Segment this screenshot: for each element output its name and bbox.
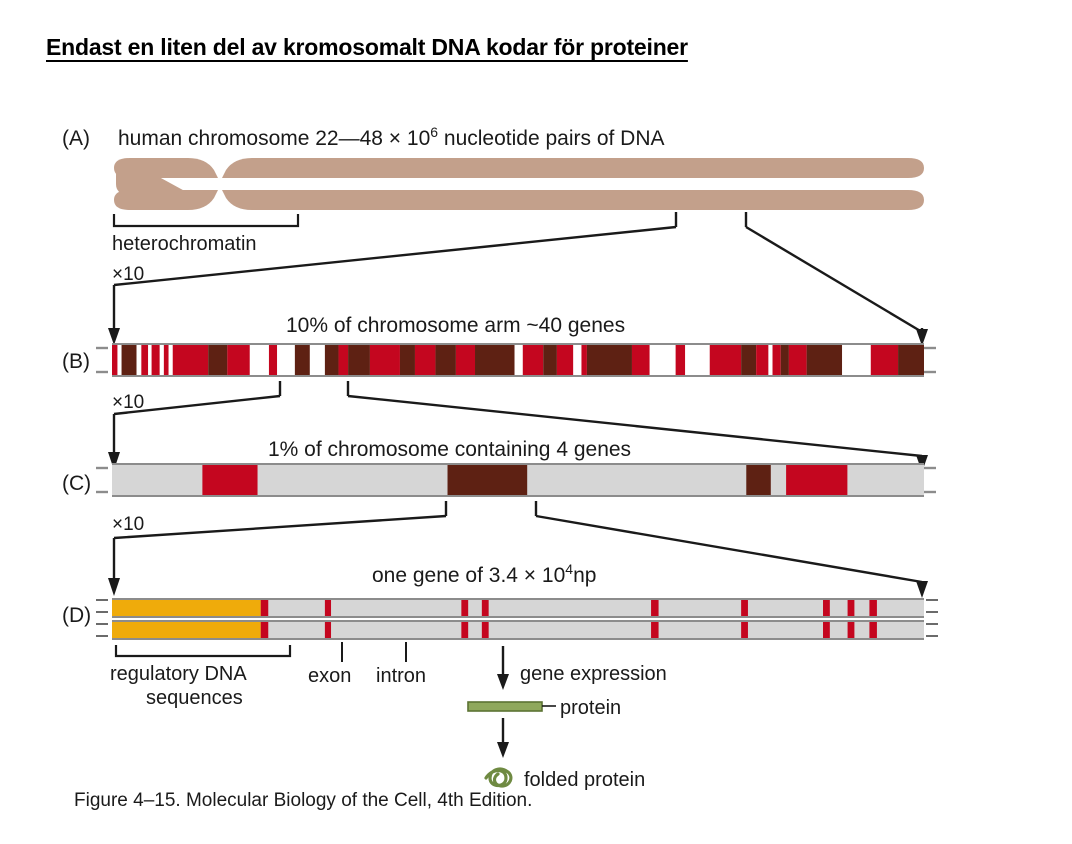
panel-c-bar: [112, 464, 924, 496]
heterochromatin-bracket: [114, 214, 298, 226]
page-title: Endast en liten del av kromosomalt DNA k…: [46, 34, 688, 61]
panel-b-band: [122, 345, 137, 375]
panel-b-band: [137, 345, 142, 375]
panel-b-band: [543, 345, 557, 375]
exon-band: [848, 600, 855, 616]
slide-canvas: Endast en liten del av kromosomalt DNA k…: [0, 0, 1072, 844]
panel-b-band: [277, 345, 295, 375]
panel-d-key: (D): [62, 604, 91, 627]
exon-band: [651, 622, 659, 638]
exon-band: [482, 600, 489, 616]
panel-a-heading-exponent: 6: [430, 124, 438, 140]
exon-band: [741, 600, 748, 616]
panel-a-group: (A) human chromosome 22—48 × 106 nucleot…: [62, 124, 928, 346]
panel-b-band: [842, 345, 871, 375]
panel-b-bar: [112, 344, 924, 376]
panel-b-band: [587, 345, 632, 375]
panel-b-band: [208, 345, 227, 375]
protein-label: protein: [560, 697, 621, 719]
exon-band: [869, 600, 877, 616]
panel-b-band: [523, 345, 543, 375]
panel-b-band: [141, 345, 148, 375]
panel-b-band: [400, 345, 415, 375]
exon-band: [741, 622, 748, 638]
chromatid-arm-lower-right: [222, 190, 924, 210]
panel-d-heading-exponent: 4: [565, 561, 573, 577]
chromosome-graphic: [114, 158, 924, 210]
regulatory-dna-label-line2: sequences: [146, 687, 243, 709]
panel-b-band: [632, 345, 650, 375]
arrowhead-c-to-d-left: [108, 578, 120, 596]
panel-c-block: [746, 465, 771, 495]
panel-b-band: [768, 345, 772, 375]
chromosome-magnification-figure: (A) human chromosome 22—48 × 106 nucleot…: [0, 100, 1072, 844]
exon-band: [651, 600, 659, 616]
chromatid-arm-lower-left: [114, 190, 218, 210]
panel-b-band: [676, 345, 686, 375]
heterochromatin-label: heterochromatin: [112, 233, 257, 255]
panel-b-band: [295, 345, 310, 375]
panel-d-dna-double-strand: [112, 599, 924, 639]
panel-c-block: [786, 465, 847, 495]
exon-band: [461, 600, 468, 616]
panel-c-block: [448, 465, 528, 495]
magnification-b-to-c-label: ×10: [112, 392, 144, 413]
folding-arrowhead: [497, 742, 509, 758]
panel-b-band-group: [112, 345, 924, 375]
panel-b-band: [756, 345, 768, 375]
panel-c-heading: 1% of chromosome containing 4 genes: [268, 438, 631, 461]
panel-b-band: [573, 345, 581, 375]
panel-b-band: [741, 345, 756, 375]
panel-b-band: [807, 345, 842, 375]
panel-b-band: [348, 345, 370, 375]
exon-band: [482, 622, 489, 638]
regulatory-dna-region: [112, 622, 261, 638]
panel-b-band: [310, 345, 325, 375]
intron-label: intron: [376, 665, 426, 687]
panel-d-heading-post: np: [573, 564, 596, 587]
chromatid-arm-upper-right: [222, 158, 924, 178]
panel-b-band: [789, 345, 807, 375]
chromatid-shapes: [114, 158, 924, 210]
panel-b-band: [152, 345, 160, 375]
exon-band: [848, 622, 855, 638]
panel-b-band: [148, 345, 151, 375]
exon-band: [261, 600, 269, 616]
panel-b-band: [515, 345, 523, 375]
panel-b-band: [415, 345, 435, 375]
panel-b-band: [685, 345, 710, 375]
exon-band: [461, 622, 468, 638]
panel-b-band: [325, 345, 339, 375]
panel-b-key: (B): [62, 350, 90, 373]
protein-bar: [468, 702, 542, 711]
panel-b-band: [339, 345, 349, 375]
exon-band: [823, 600, 830, 616]
figure-diagram: (A) human chromosome 22—48 × 106 nucleot…: [0, 100, 1072, 844]
exon-band: [823, 622, 830, 638]
panel-b-band: [781, 345, 789, 375]
regulatory-dna-region: [112, 600, 261, 616]
panel-b-band: [773, 345, 781, 375]
panel-b-band: [898, 345, 924, 375]
exon-band: [869, 622, 877, 638]
panel-b-band: [370, 345, 400, 375]
protein-graphic: [468, 702, 542, 711]
connector-c-to-d-left: [114, 516, 446, 538]
exon-label: exon: [308, 665, 351, 687]
regulatory-dna-label-line1: regulatory DNA: [110, 663, 247, 685]
regulatory-region-group: [112, 600, 261, 638]
panel-a-key: (A): [62, 127, 90, 150]
panel-b-band: [112, 345, 117, 375]
panel-b-band: [871, 345, 898, 375]
panel-b-band: [164, 345, 169, 375]
panel-b-band: [435, 345, 455, 375]
exon-band: [261, 622, 269, 638]
panel-b-band: [557, 345, 573, 375]
panel-b-band: [250, 345, 269, 375]
exon-band: [325, 600, 331, 616]
panel-b-band: [117, 345, 121, 375]
panel-b-band: [169, 345, 173, 375]
panel-b-band: [269, 345, 277, 375]
panel-d-heading-pre: one gene of 3.4 × 10: [372, 564, 565, 587]
panel-b-band: [456, 345, 475, 375]
panel-b-band: [173, 345, 208, 375]
exon-band: [325, 622, 331, 638]
panel-c-key: (C): [62, 472, 91, 495]
panel-b-band: [710, 345, 741, 375]
folded-protein-label: folded protein: [524, 769, 645, 791]
figure-caption: Figure 4–15. Molecular Biology of the Ce…: [74, 790, 532, 811]
arrowhead-c-to-d-right: [916, 581, 928, 598]
gene-expression-label: gene expression: [520, 663, 667, 685]
regulatory-bracket: [116, 645, 290, 656]
panel-b-band: [227, 345, 250, 375]
panel-b-band: [160, 345, 164, 375]
magnification-c-to-d-label: ×10: [112, 514, 144, 535]
panel-c-block: [202, 465, 257, 495]
panel-a-heading-post: nucleotide pairs of DNA: [438, 127, 664, 150]
panel-b-band: [581, 345, 586, 375]
panel-b-band: [475, 345, 515, 375]
connector-a-to-b-right: [746, 227, 922, 332]
folded-protein-squiggle-icon: [486, 769, 511, 786]
panel-a-heading-pre: human chromosome 22—48 × 10: [118, 127, 430, 150]
panel-d-heading: one gene of 3.4 × 104np: [372, 561, 596, 587]
panel-d-group: one gene of 3.4 × 104np (D): [62, 561, 938, 791]
panel-a-heading: human chromosome 22—48 × 106 nucleotide …: [118, 124, 665, 150]
chromatid-arm-upper-left: [114, 158, 218, 178]
panel-b-band: [650, 345, 676, 375]
arrowhead-a-to-b-left: [108, 328, 120, 345]
panel-b-heading: 10% of chromosome arm ~40 genes: [286, 314, 625, 337]
gene-expression-arrowhead: [497, 674, 509, 690]
